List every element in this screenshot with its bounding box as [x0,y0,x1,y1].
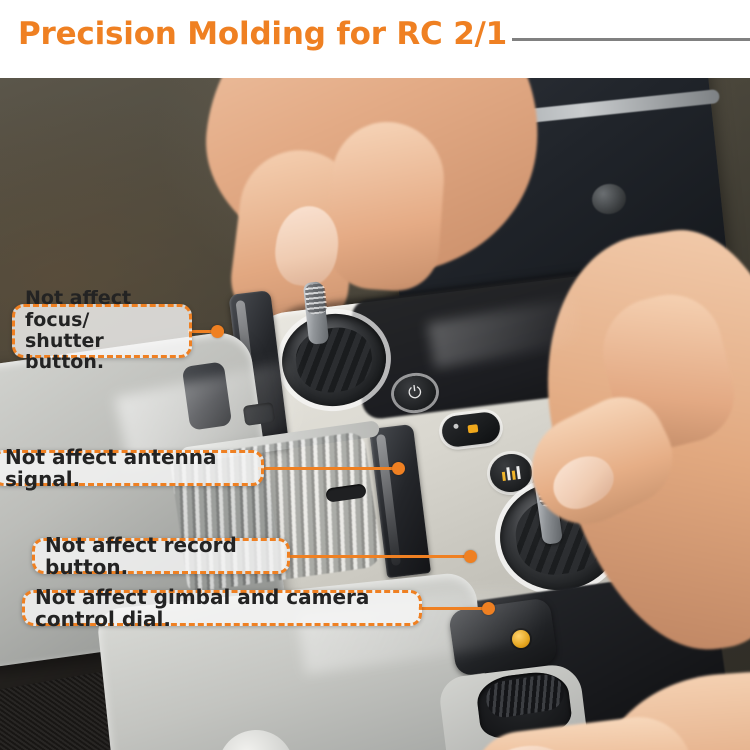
shutter-button-port [243,402,275,426]
callout-record-button: Not affect record button. [32,538,290,574]
callout-leader-dot-record [464,550,477,563]
callout-gimbal-dial: Not affect gimbal and camera control dia… [22,590,422,626]
callout-leader-line-record [286,555,476,558]
focus-shutter-button [182,361,232,430]
callout-antenna-signal-text: Not affect antenna signal. [5,446,251,491]
callout-focus-shutter-line2: shutter button. [25,330,104,373]
product-feature-image: Precision Molding for RC 2/1 ⏻ [0,0,750,750]
callout-focus-shutter: Not affect focus/ shutter button. [12,304,192,358]
joystick-pad-left [292,324,375,397]
callout-antenna-signal: Not affect antenna signal. [0,450,264,486]
title-divider-rule [512,38,750,41]
callout-leader-dot-gimbal [482,602,495,615]
finger-top-middle [324,118,447,293]
callout-leader-dot-antenna [392,462,405,475]
record-dot-icon [512,630,530,648]
callout-record-button-text: Not affect record button. [45,534,277,579]
power-icon: ⏻ [407,384,422,403]
header-bar: Precision Molding for RC 2/1 [0,0,750,78]
mode-switch-indicator-icon [467,424,478,433]
product-photo: ⏻ [0,78,750,750]
pause-bars-icon [501,465,520,480]
mode-switch-marker-icon [453,424,459,430]
callout-focus-shutter-line1: Not affect focus/ [25,287,131,330]
callout-leader-dot-focus-shutter [211,325,224,338]
page-title: Precision Molding for RC 2/1 [18,16,507,52]
callout-leader-line-antenna [258,467,404,470]
callout-gimbal-dial-text: Not affect gimbal and camera control dia… [35,586,409,631]
joystick-thread-left [304,283,327,315]
